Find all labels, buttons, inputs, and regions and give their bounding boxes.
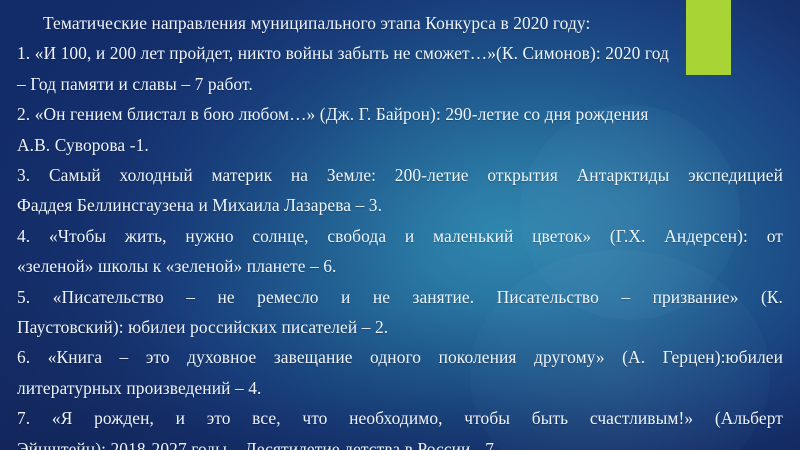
list-item-line-2: А.В. Суворова -1. (17, 130, 783, 160)
list-item-line-1: 4. «Чтобы жить, нужно солнце, свобода и … (17, 221, 783, 251)
list-item-line-2: «зеленой» школы к «зеленой» планете – 6. (17, 251, 783, 281)
list-item-line-2: Фаддея Беллинсгаузена и Михаила Лазарева… (17, 190, 783, 220)
list-item: 3. Самый холодный материк на Земле: 200-… (17, 160, 783, 221)
list-item-line-1: 5. «Писательство – не ремесло и не занят… (17, 282, 783, 312)
list-item-line-2: Эйнштейн): 2018-2027 годы – Десятилетие … (17, 434, 783, 450)
list-item-line-1: 7. «Я рожден, и это все, что необходимо,… (17, 403, 783, 433)
list-item-line-2: – Год памяти и славы – 7 работ. (17, 69, 783, 99)
list-item: 2. «Он гением блистал в бою любом…» (Дж.… (17, 99, 783, 160)
list-item: 6. «Книга – это духовное завещание одног… (17, 342, 783, 403)
presentation-slide: Тематические направления муниципального … (0, 0, 800, 450)
list-item: 7. «Я рожден, и это все, что необходимо,… (17, 403, 783, 450)
list-item-line-1: 1. «И 100, и 200 лет пройдет, никто войн… (17, 38, 783, 68)
slide-heading: Тематические направления муниципального … (17, 8, 783, 38)
list-item-line-1: 3. Самый холодный материк на Земле: 200-… (17, 160, 783, 190)
list-item-line-1: 6. «Книга – это духовное завещание одног… (17, 342, 783, 372)
slide-text-body: Тематические направления муниципального … (17, 8, 783, 450)
list-item: 1. «И 100, и 200 лет пройдет, никто войн… (17, 38, 783, 99)
list-item-line-1: 2. «Он гением блистал в бою любом…» (Дж.… (17, 99, 783, 129)
list-item-line-2: литературных произведений – 4. (17, 373, 783, 403)
list-item: 5. «Писательство – не ремесло и не занят… (17, 282, 783, 343)
list-item-line-2: Паустовский): юбилеи российских писателе… (17, 312, 783, 342)
list-item: 4. «Чтобы жить, нужно солнце, свобода и … (17, 221, 783, 282)
